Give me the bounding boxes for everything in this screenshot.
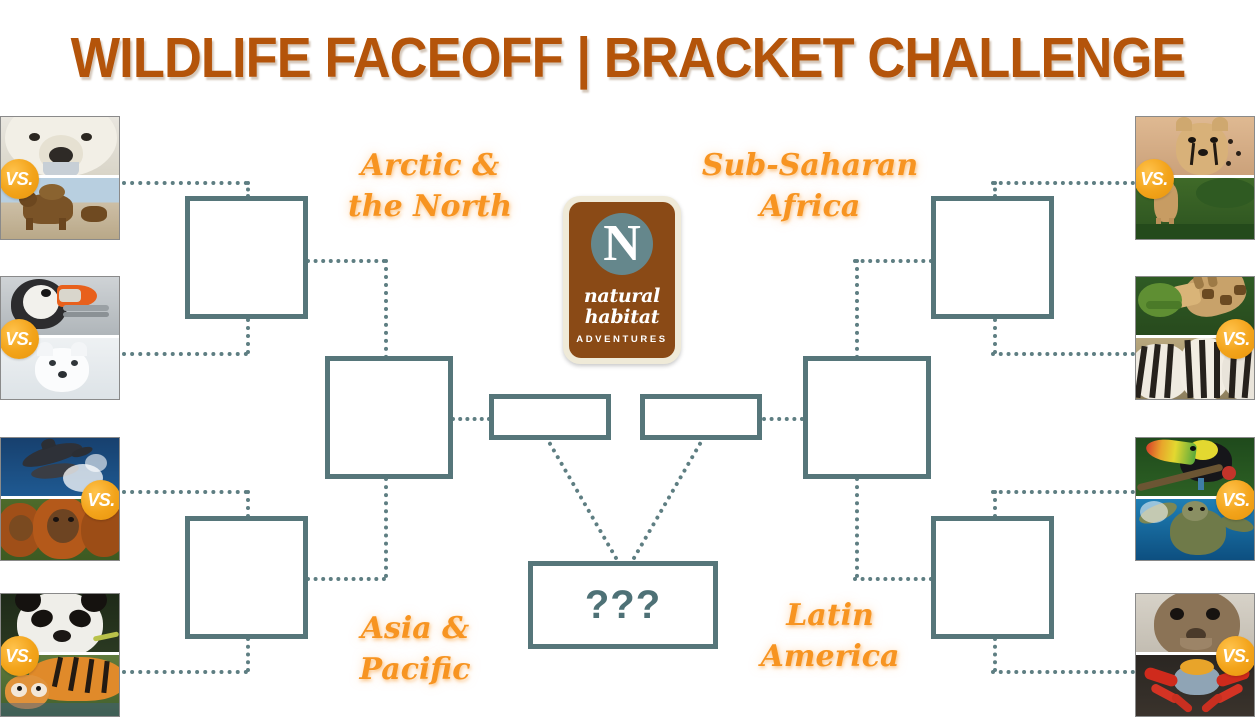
connector-line-diagonal (631, 441, 702, 561)
connector-line (991, 181, 1135, 185)
bracket-slot-left-finalist[interactable] (489, 394, 611, 440)
connector-line (991, 352, 1135, 356)
champion-placeholder-text: ??? (585, 585, 661, 625)
page-title: WILDLIFE FACEOFF | BRACKET CHALLENGE (50, 28, 1206, 88)
connector-line (122, 490, 248, 494)
bracket-poster: WILDLIFE FACEOFF | BRACKET CHALLENGE Arc… (0, 0, 1256, 717)
vs-badge: VS. (1216, 319, 1255, 359)
vs-badge: VS. (0, 159, 39, 199)
matchup-card-puffin-vs-arctic-fox[interactable]: VS. (0, 276, 120, 400)
connector-line (991, 670, 1135, 674)
region-label-arctic-and-the-north: Arctic & the North (330, 145, 530, 227)
connector-line (993, 318, 997, 354)
matchup-card-giraffe-vs-zebras[interactable]: VS. (1135, 276, 1255, 400)
connector-line (306, 259, 386, 263)
connector-line (991, 490, 1135, 494)
connector-line (855, 259, 859, 359)
matchup-card-toucan-vs-sea-turtle[interactable]: VS. (1135, 437, 1255, 561)
bracket-slot-left-semi-top[interactable] (185, 196, 308, 319)
champion-box[interactable]: ??? (528, 561, 718, 649)
vs-badge: VS. (0, 319, 39, 359)
matchup-card-sea-lion-vs-crab[interactable]: VS. (1135, 593, 1255, 717)
matchup-card-panda-vs-tiger[interactable]: VS. (0, 593, 120, 717)
bracket-slot-right-region-final[interactable] (803, 356, 931, 479)
vs-badge: VS. (1216, 480, 1255, 520)
connector-line (762, 417, 804, 421)
connector-line (122, 181, 248, 185)
region-label-latin-america: Latin America (740, 595, 920, 677)
connector-line (993, 490, 997, 518)
connector-line (122, 352, 248, 356)
natural-habitat-adventures-logo: N natural habitat ADVENTURES (563, 196, 681, 364)
connector-line (384, 477, 388, 578)
vs-badge: VS. (0, 636, 39, 676)
connector-line (246, 318, 250, 354)
connector-line-diagonal (547, 441, 618, 561)
logo-wordmark-line1: natural (584, 286, 660, 307)
connector-line (993, 637, 997, 672)
connector-line (853, 259, 933, 263)
connector-line (853, 577, 933, 581)
connector-line (246, 637, 250, 672)
vs-badge: VS. (1135, 159, 1174, 199)
connector-line (855, 477, 859, 578)
bracket-slot-right-finalist[interactable] (640, 394, 762, 440)
region-label-sub-saharan-africa: Sub-Saharan Africa (700, 145, 920, 227)
matchup-card-cheetah-vs-lioness[interactable]: VS. (1135, 116, 1255, 240)
vs-badge: VS. (1216, 636, 1255, 676)
bracket-slot-right-semi-bottom[interactable] (931, 516, 1054, 639)
logo-monogram-icon: N (591, 213, 653, 275)
bracket-slot-left-region-final[interactable] (325, 356, 453, 479)
connector-line (122, 670, 248, 674)
logo-inner-panel: N natural habitat ADVENTURES (569, 202, 675, 358)
logo-wordmark-line2: habitat (585, 307, 659, 328)
bracket-slot-right-semi-top[interactable] (931, 196, 1054, 319)
matchup-card-dolphins-vs-orangutans[interactable]: VS. (0, 437, 120, 561)
connector-line (306, 577, 386, 581)
matchup-card-polar-bear-vs-brown-bears[interactable]: VS. (0, 116, 120, 240)
region-label-asia-and-pacific: Asia & Pacific (320, 608, 510, 690)
connector-line (384, 259, 388, 359)
connector-line (246, 490, 250, 518)
connector-line (451, 417, 491, 421)
bracket-slot-left-semi-bottom[interactable] (185, 516, 308, 639)
logo-wordmark-line3: ADVENTURES (576, 334, 667, 345)
vs-badge: VS. (81, 480, 120, 520)
